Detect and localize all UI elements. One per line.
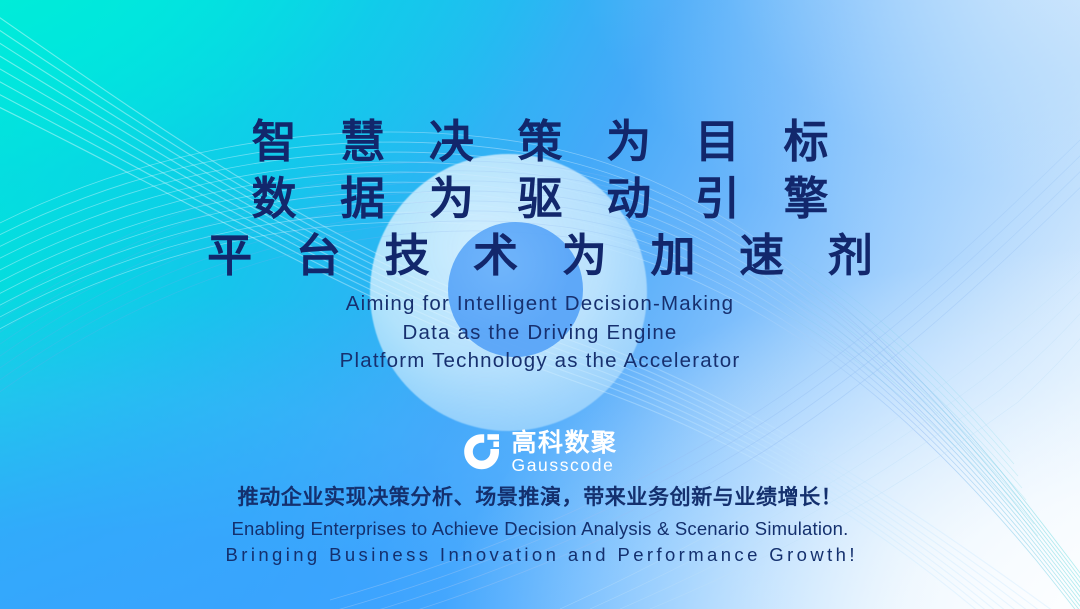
subheadline-line-3: Platform Technology as the Accelerator xyxy=(0,347,1080,376)
poster-banner: 智 慧 决 策 为 目 标 数 据 为 驱 动 引 擎 平 台 技 术 为 加 … xyxy=(0,0,1080,609)
logo-name-cn: 高科数聚 xyxy=(511,430,617,455)
subheadline-block: Aiming for Intelligent Decision-Making D… xyxy=(0,290,1080,376)
headline-block: 智 慧 决 策 为 目 标 数 据 为 驱 动 引 擎 平 台 技 术 为 加 … xyxy=(0,113,1080,284)
subheadline-line-2: Data as the Driving Engine xyxy=(0,319,1080,348)
logo-name-en: Gausscode xyxy=(511,457,617,475)
footer-tagline-en-line1: Enabling Enterprises to Achieve Decision… xyxy=(0,516,1080,542)
footer-tagline-en-line2: Bringing Business Innovation and Perform… xyxy=(0,542,1080,568)
headline-line-3: 平 台 技 术 为 加 速 剂 xyxy=(0,227,1080,284)
headline-line-1: 智 慧 决 策 为 目 标 xyxy=(0,113,1080,170)
footer-block: 推动企业实现决策分析、场景推演，带来业务创新与业绩增长！ Enabling En… xyxy=(0,482,1080,568)
headline-line-2: 数 据 为 驱 动 引 擎 xyxy=(0,170,1080,227)
subheadline-line-1: Aiming for Intelligent Decision-Making xyxy=(0,290,1080,319)
footer-tagline-cn: 推动企业实现决策分析、场景推演，带来业务创新与业绩增长！ xyxy=(0,482,1080,512)
gausscode-g-mark-icon xyxy=(462,432,502,472)
poster-content: 智 慧 决 策 为 目 标 数 据 为 驱 动 引 擎 平 台 技 术 为 加 … xyxy=(0,0,1080,609)
brand-logo: 高科数聚 Gausscode xyxy=(0,430,1080,475)
